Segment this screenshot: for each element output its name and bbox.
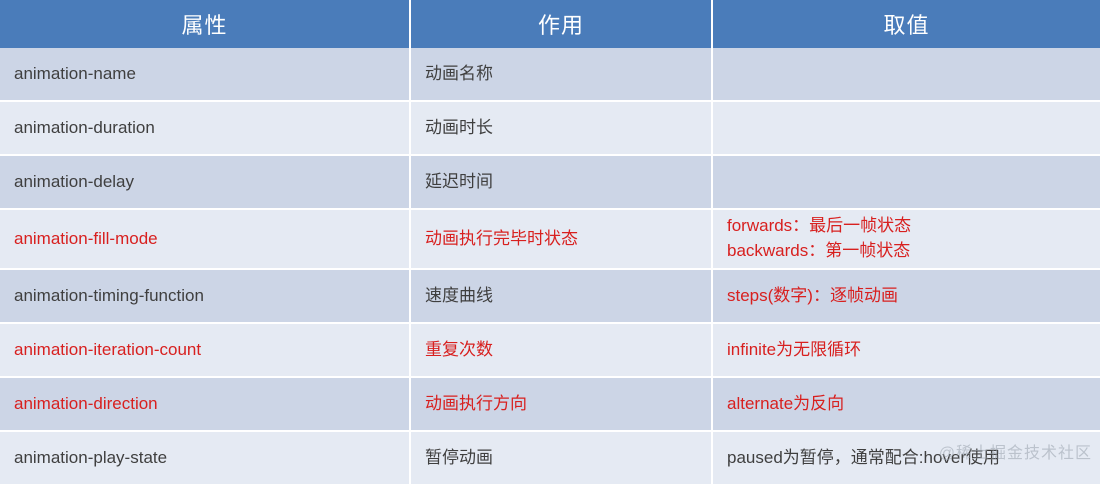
table-body: animation-name 动画名称 animation-duration 动… [0, 48, 1100, 485]
table-row: animation-timing-function 速度曲线 steps(数字)… [0, 269, 1100, 323]
cell-effect: 动画执行完毕时状态 [410, 209, 712, 269]
cell-effect: 速度曲线 [410, 269, 712, 323]
column-header-effect: 作用 [410, 0, 712, 48]
cell-property: animation-play-state [0, 431, 410, 485]
table-row: animation-iteration-count 重复次数 infinite为… [0, 323, 1100, 377]
table-row: animation-duration 动画时长 [0, 101, 1100, 155]
column-header-value: 取值 [712, 0, 1100, 48]
cell-property: animation-duration [0, 101, 410, 155]
cell-value: forwards：最后一帧状态 backwards：第一帧状态 [712, 209, 1100, 269]
cell-property: animation-timing-function [0, 269, 410, 323]
column-header-property: 属性 [0, 0, 410, 48]
cell-property: animation-name [0, 48, 410, 101]
cell-effect: 动画时长 [410, 101, 712, 155]
cell-value [712, 101, 1100, 155]
table-row: animation-fill-mode 动画执行完毕时状态 forwards：最… [0, 209, 1100, 269]
cell-value [712, 48, 1100, 101]
cell-property: animation-fill-mode [0, 209, 410, 269]
cell-value: paused为暂停，通常配合:hover使用 [712, 431, 1100, 485]
cell-property: animation-delay [0, 155, 410, 209]
cell-effect: 动画名称 [410, 48, 712, 101]
cell-value [712, 155, 1100, 209]
animation-properties-table: 属性 作用 取值 animation-name 动画名称 animation-d… [0, 0, 1100, 486]
cell-value: steps(数字)：逐帧动画 [712, 269, 1100, 323]
cell-value: alternate为反向 [712, 377, 1100, 431]
table-row: animation-direction 动画执行方向 alternate为反向 [0, 377, 1100, 431]
cell-effect: 延迟时间 [410, 155, 712, 209]
table-row: animation-play-state 暂停动画 paused为暂停，通常配合… [0, 431, 1100, 485]
cell-value: infinite为无限循环 [712, 323, 1100, 377]
table-header-row: 属性 作用 取值 [0, 0, 1100, 48]
table-row: animation-name 动画名称 [0, 48, 1100, 101]
table-row: animation-delay 延迟时间 [0, 155, 1100, 209]
cell-effect: 动画执行方向 [410, 377, 712, 431]
cell-effect: 暂停动画 [410, 431, 712, 485]
cell-effect: 重复次数 [410, 323, 712, 377]
table-header: 属性 作用 取值 [0, 0, 1100, 48]
cell-property: animation-iteration-count [0, 323, 410, 377]
cell-property: animation-direction [0, 377, 410, 431]
animation-properties-table-container: 属性 作用 取值 animation-name 动画名称 animation-d… [0, 0, 1100, 469]
